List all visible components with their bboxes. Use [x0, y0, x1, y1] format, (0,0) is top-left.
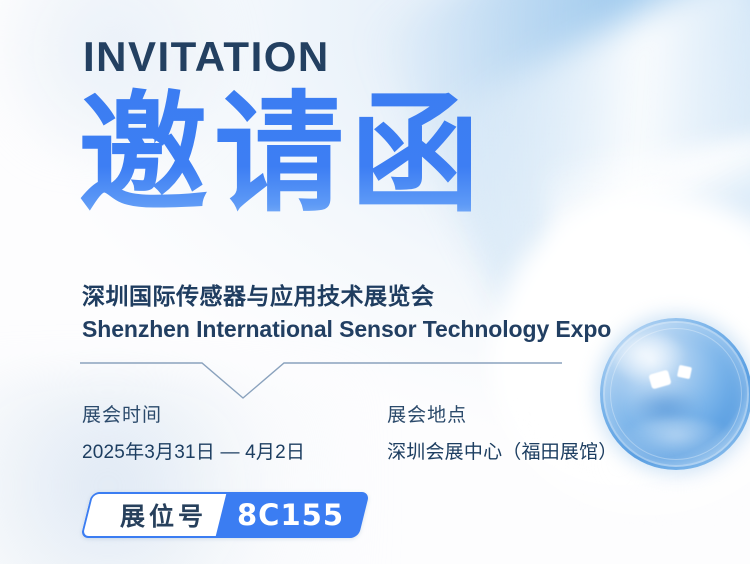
glass-marble-sphere: [600, 318, 750, 470]
subtitle-chinese: 深圳国际传感器与应用技术展览会: [82, 277, 435, 311]
detail-date-value: 2025年3月31日 — 4月2日: [82, 437, 305, 464]
booth-badge-value: 8C155: [237, 498, 344, 532]
divider-with-notch: [80, 360, 562, 402]
detail-venue: 展会地点 深圳会展中心（福田展馆）: [387, 400, 617, 464]
marble-bottom-glow: [622, 418, 732, 462]
booth-badge-value-panel: 8C155: [215, 492, 369, 538]
marble-inner-core: [630, 388, 700, 428]
detail-date: 展会时间 2025年3月31日 — 4月2日: [82, 400, 305, 464]
background-white-blob: [490, 194, 750, 524]
marble-broad-highlight: [614, 334, 688, 384]
booth-badge-label-panel: 展位号: [80, 492, 228, 538]
page-title: 邀请函: [78, 82, 486, 228]
invitation-poster: INVITATION 邀请函 深圳国际传感器与应用技术展览会 Shenzhen …: [0, 0, 750, 564]
booth-number-badge: 展位号 8C155: [86, 492, 364, 538]
marble-specular-highlight-large: [648, 370, 671, 390]
background-tube-edge: [543, 135, 750, 286]
eyebrow-invitation-en: INVITATION: [83, 36, 330, 78]
marble-rim-inner: [610, 328, 742, 460]
detail-date-label: 展会时间: [82, 400, 305, 427]
booth-badge-label: 展位号: [116, 497, 207, 533]
marble-rim-outer: [603, 321, 749, 467]
divider-line: [80, 363, 562, 398]
detail-venue-value: 深圳会展中心（福田展馆）: [387, 437, 617, 464]
event-details: 展会时间 2025年3月31日 — 4月2日 展会地点 深圳会展中心（福田展馆）: [82, 400, 617, 464]
marble-specular-highlight-small: [677, 365, 692, 379]
detail-venue-label: 展会地点: [387, 400, 617, 427]
subtitle-english: Shenzhen International Sensor Technology…: [82, 316, 611, 343]
